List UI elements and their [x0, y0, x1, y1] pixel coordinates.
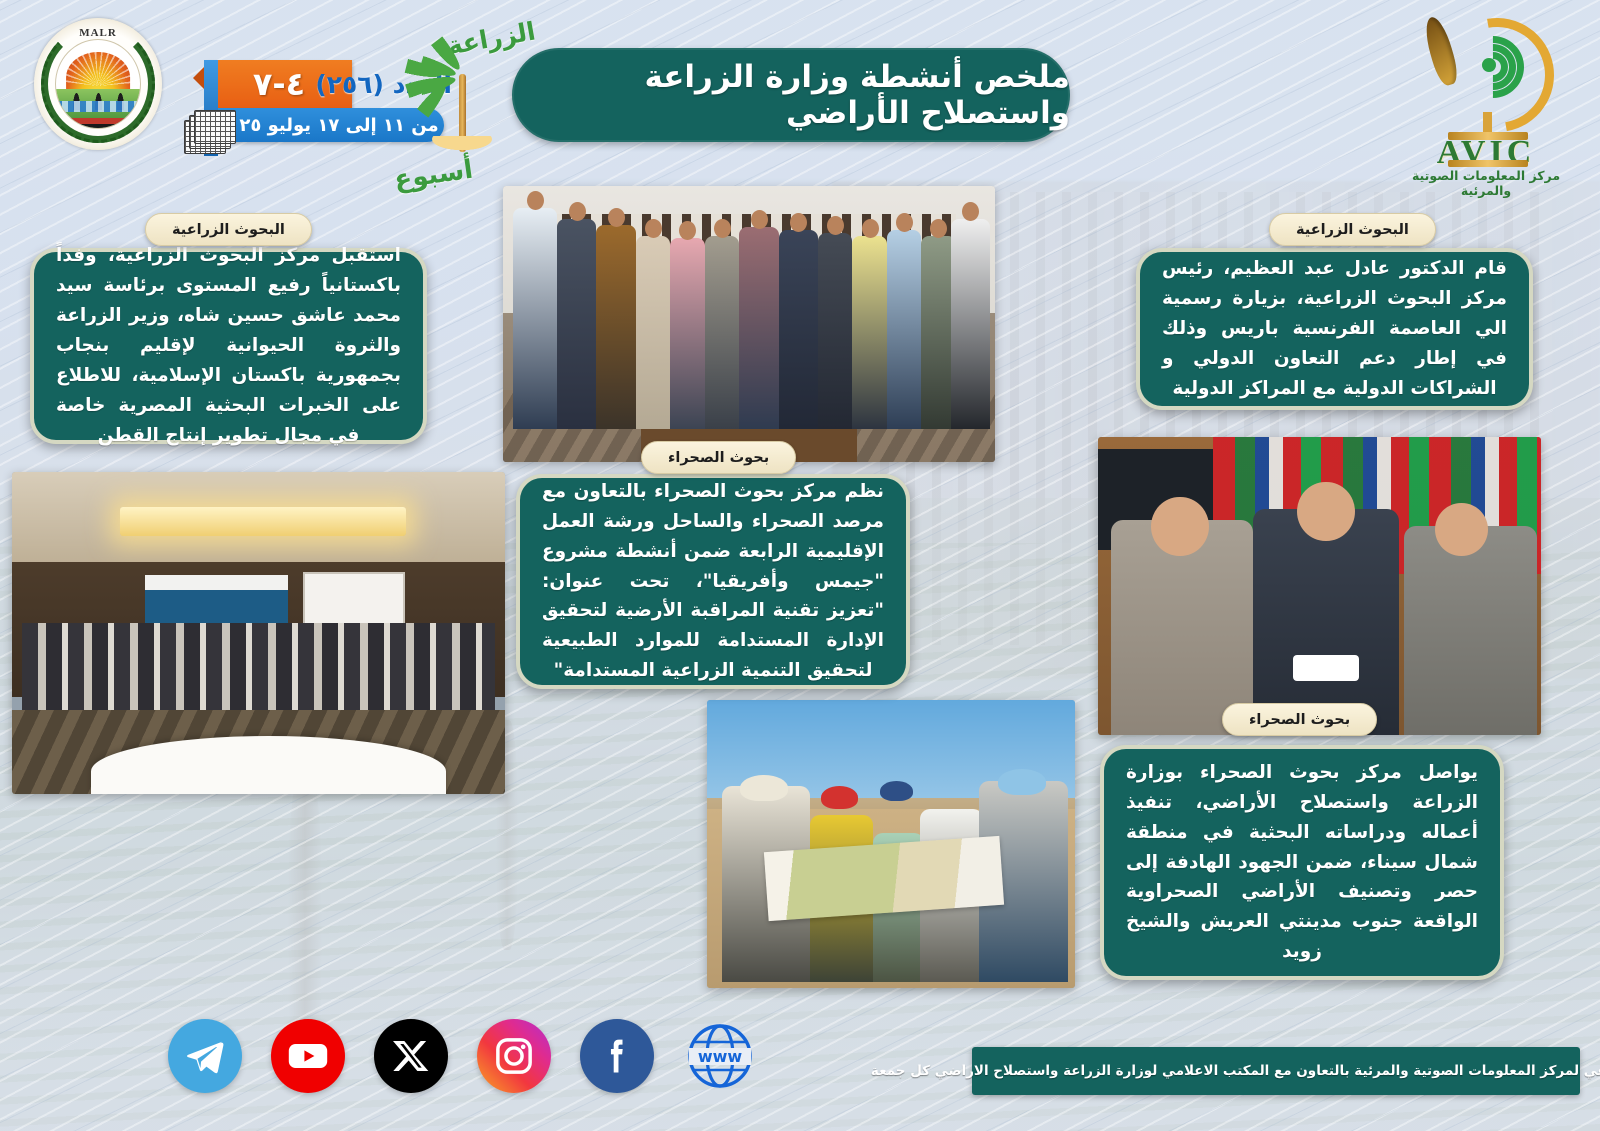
card-agri-left: استقبل مركز البحوث الزراعية، وفداً باكست…	[30, 248, 427, 444]
www-icon[interactable]: www	[683, 1019, 757, 1093]
card-desert-right: يواصل مركز بحوث الصحراء بوزارة الزراعة و…	[1100, 745, 1504, 980]
card-agri-right: قام الدكتور عادل عبد العظيم، رئيس مركز ا…	[1136, 248, 1533, 410]
palm-logo-bottom-text: أسبوع	[392, 155, 475, 196]
card-label-desert-right: بحوث الصحراء	[1222, 703, 1377, 736]
card-agri-left-text: استقبل مركز البحوث الزراعية، وفداً باكست…	[34, 223, 423, 469]
social-links: www	[168, 1019, 757, 1093]
page-title-text: ملخص أنشطة وزارة الزراعة واستصلاح الأراض…	[512, 59, 1070, 131]
facebook-icon[interactable]	[580, 1019, 654, 1093]
page-title: ملخص أنشطة وزارة الزراعة واستصلاح الأراض…	[512, 48, 1070, 142]
palm-logo-top-text: الزراعة	[445, 17, 537, 61]
card-desert-center-text: نظم مركز بحوث الصحراء بالتعاون مع مرصد ا…	[520, 459, 906, 705]
header: MALR ٤-٧ العدد (٢٥٦) من ١١ إلى ١٧ يوليو …	[0, 0, 1600, 190]
photo-conference	[12, 472, 505, 794]
instagram-icon[interactable]	[477, 1019, 551, 1093]
photo-field	[707, 700, 1075, 988]
footer-bar: اصدار اسبوعي لمركز المعلومات الصوتية وال…	[972, 1047, 1580, 1095]
photo-delegation	[503, 186, 995, 462]
photo-handshake	[1098, 437, 1541, 735]
emblem-acronym-text: MALR	[34, 27, 162, 39]
telegram-icon[interactable]	[168, 1019, 242, 1093]
card-desert-right-text: يواصل مركز بحوث الصحراء بوزارة الزراعة و…	[1104, 740, 1500, 986]
svg-text:www: www	[698, 1047, 743, 1066]
card-desert-center: نظم مركز بحوث الصحراء بالتعاون مع مرصد ا…	[516, 474, 910, 689]
emblem-sun-rays	[64, 51, 133, 86]
youtube-icon[interactable]	[271, 1019, 345, 1093]
emblem-water-icon	[56, 101, 140, 112]
agriculture-week-palm-logo: الزراعة أسبوع	[392, 22, 532, 188]
emblem-black-band	[56, 124, 140, 128]
palm-sand-mound	[427, 136, 497, 152]
card-label-agri-right: البحوث الزراعية	[1269, 213, 1436, 246]
emblem-inner-disc	[55, 39, 141, 129]
card-label-agri-left: البحوث الزراعية	[145, 213, 312, 246]
malr-ministry-emblem: MALR	[34, 18, 162, 150]
avic-logo: AVIC مركز المعلومات الصوتية والمرئية	[1406, 8, 1566, 180]
signal-center-dot-icon	[1482, 58, 1496, 72]
x-twitter-icon[interactable]	[374, 1019, 448, 1093]
card-agri-right-text: قام الدكتور عادل عبد العظيم، رئيس مركز ا…	[1140, 236, 1529, 422]
card-label-desert-center: بحوث الصحراء	[641, 441, 796, 474]
footer-text: اصدار اسبوعي لمركز المعلومات الصوتية وال…	[871, 1063, 1600, 1079]
avic-bottom-bar	[1448, 160, 1528, 167]
calendar-icon	[184, 110, 238, 154]
avic-subtitle-text: مركز المعلومات الصوتية والمرئية	[1400, 168, 1572, 198]
